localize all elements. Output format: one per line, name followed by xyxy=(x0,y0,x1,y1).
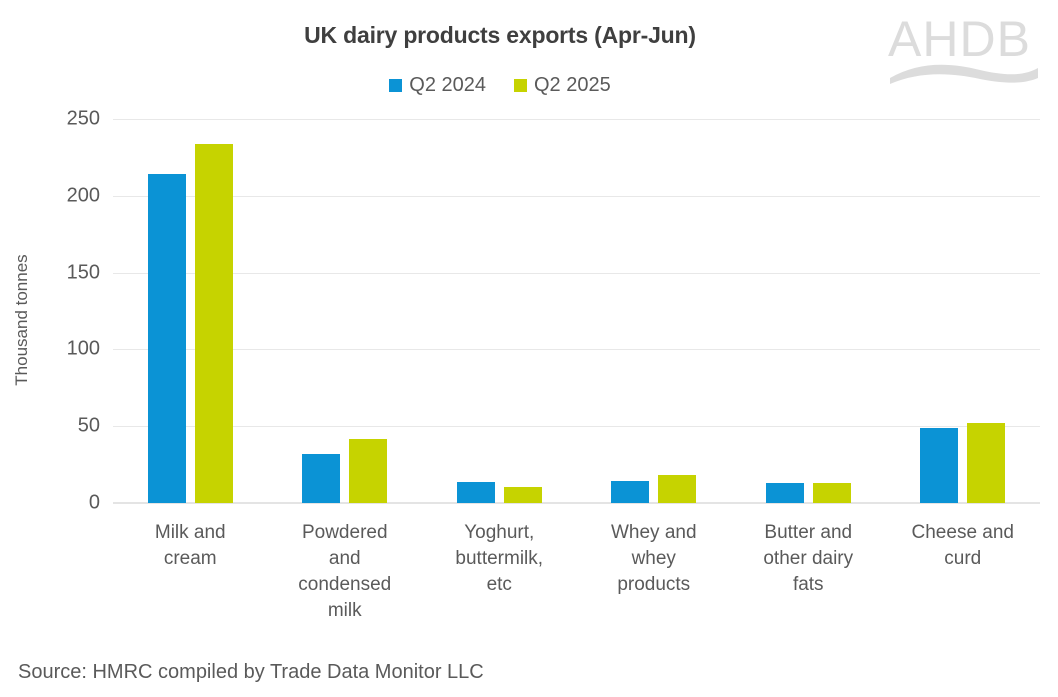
bar-q2-2024[interactable] xyxy=(457,482,495,504)
bar-q2-2024[interactable] xyxy=(766,483,804,503)
bar-group xyxy=(422,119,577,503)
bar-q2-2025[interactable] xyxy=(658,475,696,503)
x-axis-label-line: buttermilk, xyxy=(426,546,573,572)
bar-q2-2025[interactable] xyxy=(813,483,851,503)
x-axis-label-line: Cheese and xyxy=(890,520,1037,546)
x-axis-label: Whey andwheyproducts xyxy=(577,520,732,624)
x-axis-label-line: Whey and xyxy=(581,520,728,546)
x-axis-label-line: Butter and xyxy=(735,520,882,546)
y-tick-label: 50 xyxy=(78,415,100,438)
x-axis-label: Butter andother dairyfats xyxy=(731,520,886,624)
x-axis-label: Milk andcream xyxy=(113,520,268,624)
bar-group xyxy=(731,119,886,503)
x-axis-label-line: condensed xyxy=(272,572,419,598)
plot-area xyxy=(113,119,1040,503)
chart-page: AHDB UK dairy products exports (Apr-Jun)… xyxy=(0,0,1058,697)
x-axis-label-line: products xyxy=(581,572,728,598)
y-tick-label: 200 xyxy=(67,184,100,207)
bar-group xyxy=(268,119,423,503)
source-note: Source: HMRC compiled by Trade Data Moni… xyxy=(18,661,484,684)
bar-group xyxy=(577,119,732,503)
bar-q2-2024[interactable] xyxy=(302,454,340,503)
y-axis-ticks: 050100150200250 xyxy=(30,108,108,504)
bar-q2-2024[interactable] xyxy=(611,481,649,503)
y-tick-label: 100 xyxy=(67,338,100,361)
x-axis-label-line: Milk and xyxy=(117,520,264,546)
bar-groups xyxy=(113,119,1040,503)
bar-q2-2024[interactable] xyxy=(148,174,186,503)
plot-wrapper: Thousand tonnes 050100150200250 Milk and… xyxy=(0,0,1058,697)
x-axis-label: Yoghurt,buttermilk,etc xyxy=(422,520,577,624)
y-tick-label: 150 xyxy=(67,261,100,284)
bar-group xyxy=(886,119,1041,503)
bar-q2-2024[interactable] xyxy=(920,428,958,503)
bar-q2-2025[interactable] xyxy=(195,144,233,503)
x-axis-label: Cheese andcurd xyxy=(886,520,1041,624)
x-axis-label-line: whey xyxy=(581,546,728,572)
x-axis-label-line: cream xyxy=(117,546,264,572)
y-tick-label: 250 xyxy=(67,108,100,131)
x-axis-labels: Milk andcreamPowderedandcondensedmilkYog… xyxy=(113,520,1040,624)
x-axis-label-line: curd xyxy=(890,546,1037,572)
x-axis-label-line: milk xyxy=(272,598,419,624)
y-axis-title: Thousand tonnes xyxy=(12,220,32,420)
x-axis-label-line: Powdered xyxy=(272,520,419,546)
x-axis-label-line: etc xyxy=(426,572,573,598)
bar-q2-2025[interactable] xyxy=(967,423,1005,503)
bar-q2-2025[interactable] xyxy=(349,439,387,504)
x-axis-label-line: other dairy xyxy=(735,546,882,572)
x-axis-label: Powderedandcondensedmilk xyxy=(268,520,423,624)
bar-q2-2025[interactable] xyxy=(504,487,542,503)
x-axis-label-line: Yoghurt, xyxy=(426,520,573,546)
y-tick-label: 0 xyxy=(89,492,100,515)
x-axis-label-line: fats xyxy=(735,572,882,598)
x-axis-label-line: and xyxy=(272,546,419,572)
bar-group xyxy=(113,119,268,503)
